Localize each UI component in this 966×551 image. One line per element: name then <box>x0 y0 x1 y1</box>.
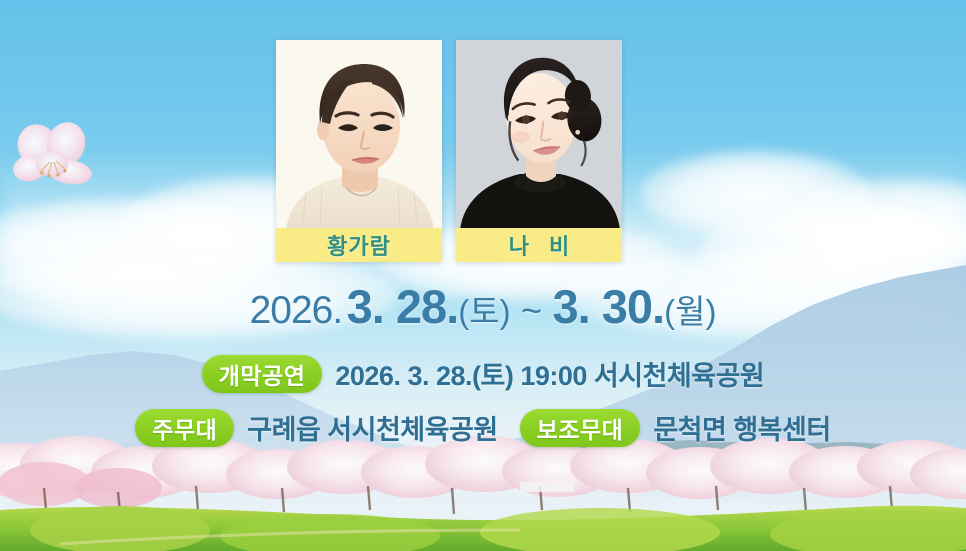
main-stage-venue: 구례읍 서시천체육공원 <box>247 408 497 447</box>
badge-opening-performance: 개막공연 <box>202 355 323 393</box>
performer-photo <box>276 40 442 230</box>
date-end-dow: (월) <box>664 293 716 330</box>
date-end-day: 3. 30. <box>553 280 665 333</box>
performer-card[interactable]: 나 비 <box>456 40 622 262</box>
performer-name: 황가람 <box>276 228 442 262</box>
badge-sub-stage: 보조무대 <box>520 409 641 447</box>
date-start-day: 3. 28. <box>347 280 459 333</box>
date-separator: ~ <box>515 290 548 331</box>
festival-date-line: 2026. 3. 28.(토) ~ 3. 30.(월) <box>0 279 966 334</box>
opening-performance-row: 개막공연 2026. 3. 28.(토) 19:00 서시천체육공원 <box>0 354 966 393</box>
date-start-dow: (토) <box>458 293 510 330</box>
portrait-illustration-man <box>276 40 442 230</box>
opening-performance-detail: 2026. 3. 28.(토) 19:00 서시천체육공원 <box>335 354 764 393</box>
festival-poster: 황가람 <box>0 0 966 551</box>
performer-photos: 황가람 <box>276 40 622 262</box>
performer-photo <box>456 40 622 230</box>
badge-main-stage: 주무대 <box>135 409 234 447</box>
sub-stage-venue: 문척면 행복센터 <box>653 408 830 447</box>
stage-venues-row: 주무대 구례읍 서시천체육공원 보조무대 문척면 행복센터 <box>0 408 966 447</box>
performer-name: 나 비 <box>456 228 622 262</box>
date-year: 2026. <box>250 289 343 332</box>
performer-card[interactable]: 황가람 <box>276 40 442 262</box>
portrait-illustration-woman <box>456 40 622 230</box>
